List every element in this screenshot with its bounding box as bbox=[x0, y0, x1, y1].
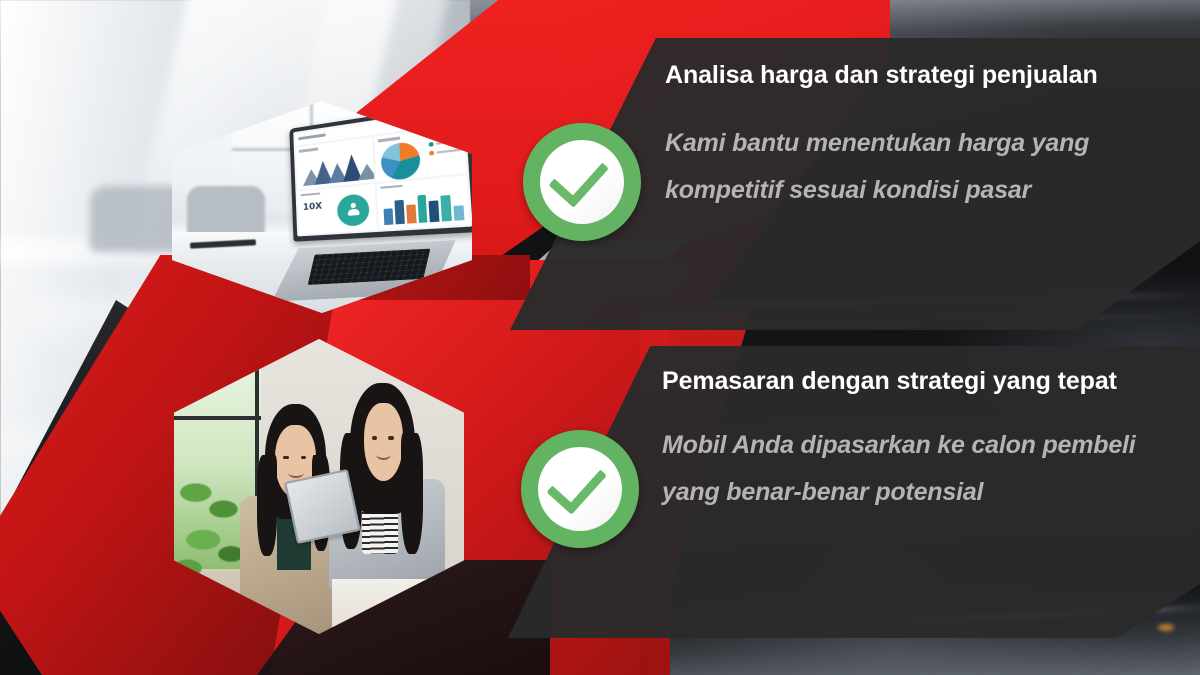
feature-card-2-description: Mobil Anda dipasarkan ke calon pembeli y… bbox=[662, 422, 1162, 516]
feature-card-2-title: Pemasaran dengan strategi yang tepat bbox=[662, 366, 1162, 397]
check-circle-inner bbox=[538, 447, 623, 532]
eye bbox=[372, 436, 378, 440]
slide-canvas: 10X bbox=[0, 0, 1200, 675]
check-circle-icon bbox=[523, 123, 641, 241]
dashboard-visitors-kpi: 10X bbox=[297, 184, 377, 234]
feature-card-1-description: Kami bantu menentukan harga yang kompeti… bbox=[665, 120, 1175, 214]
smile bbox=[288, 467, 304, 478]
dashboard-area-chart bbox=[296, 137, 375, 189]
tablet-device bbox=[284, 469, 361, 544]
area-chart-peaks bbox=[300, 152, 370, 186]
window-frame bbox=[174, 416, 261, 420]
smile bbox=[376, 448, 391, 459]
checkmark-glyph bbox=[549, 145, 610, 208]
people-icon bbox=[346, 203, 360, 218]
dashboard-bar-chart bbox=[377, 175, 469, 229]
eye bbox=[388, 436, 394, 440]
feature-card-1-title: Analisa harga dan strategi penjualan bbox=[665, 60, 1175, 91]
pie-chart bbox=[381, 141, 422, 182]
hair-strand bbox=[257, 455, 277, 556]
checkmark-glyph bbox=[547, 452, 608, 515]
laptop-keyboard bbox=[308, 249, 431, 286]
feature-card-1-text: Analisa harga dan strategi penjualan Kam… bbox=[665, 60, 1175, 214]
hair-strand bbox=[401, 433, 423, 553]
eye bbox=[283, 456, 289, 460]
eye bbox=[301, 456, 307, 460]
car-indicator-light bbox=[1158, 624, 1174, 631]
check-circle-icon bbox=[521, 430, 639, 548]
kpi-value: 10X bbox=[303, 201, 323, 213]
bar-chart-bars bbox=[383, 189, 464, 225]
visitors-icon-badge bbox=[337, 193, 370, 227]
feature-card-2-text: Pemasaran dengan strategi yang tepat Mob… bbox=[662, 366, 1162, 516]
check-circle-inner bbox=[540, 140, 625, 225]
